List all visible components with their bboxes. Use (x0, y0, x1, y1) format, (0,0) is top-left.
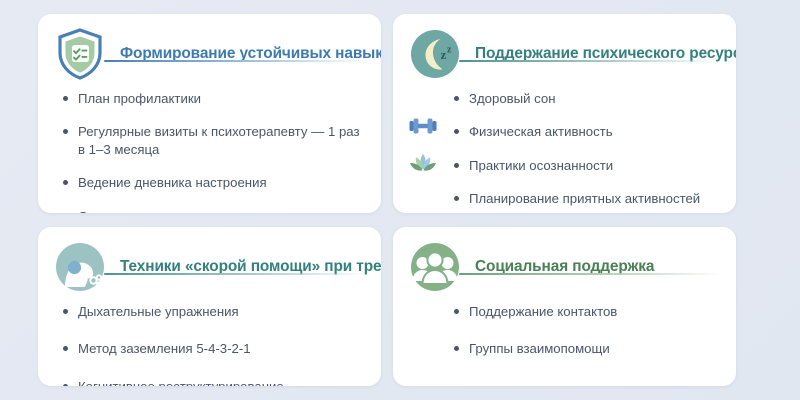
list-item: Дыхательные упражнения (60, 303, 365, 320)
list-item: Ведение дневника настроения (60, 174, 365, 191)
header-divider (104, 273, 367, 275)
card-header: Формирование устойчивых навыков (120, 32, 365, 76)
shield-checklist-icon (52, 26, 108, 82)
svg-text:z: z (441, 47, 447, 62)
card-header: Поддержание психического ресурса (475, 32, 720, 76)
list-item: Планирование приятных активностей (451, 190, 720, 207)
card-skills[interactable]: Формирование устойчивых навыков План про… (38, 14, 381, 213)
header-divider (459, 60, 722, 62)
list-item: Группы взаимопомощи (451, 340, 720, 357)
lotus-icon (407, 148, 439, 180)
list-item: Когнитивное реструктурирование (60, 378, 365, 386)
list-item: Поддержание контактов (451, 303, 720, 320)
header-divider (459, 273, 722, 275)
card-first-aid[interactable]: Техники «скорой помощи» при тревоге Дыха… (38, 227, 381, 386)
header-divider (104, 60, 367, 62)
list-item: Практики осознанности (451, 157, 720, 174)
card-grid: Формирование устойчивых навыков План про… (38, 14, 768, 386)
list-item: План профилактики (60, 90, 365, 107)
card-list: План профилактики Регулярные визиты к пс… (60, 90, 365, 213)
head-breathing-icon (52, 239, 108, 295)
card-content: Техники «скорой помощи» при тревоге Дыха… (38, 227, 381, 386)
list-item: Отслеживание ранних признаков ухудшения (60, 208, 365, 213)
dumbbell-icon (407, 110, 439, 142)
list-item: Метод заземления 5-4-3-2-1 (60, 340, 365, 357)
list-item: Физическая активность (451, 123, 720, 140)
people-group-icon (407, 239, 463, 295)
list-item: Регулярные визиты к психотерапевту — 1 р… (60, 123, 365, 158)
list-item: Здоровый сон (451, 90, 720, 107)
svg-text:z: z (447, 45, 452, 56)
card-mental-resource[interactable]: z z Поддержание психического ресурса (393, 14, 736, 213)
card-social-support[interactable]: Социальная поддержка Поддержание контакт… (393, 227, 736, 386)
card-header: Социальная поддержка (475, 245, 720, 289)
card-list: Поддержание контактов Группы взаимопомощ… (451, 303, 720, 358)
card-list: Здоровый сон Физическая активность Практ… (451, 90, 720, 208)
card-content: Социальная поддержка Поддержание контакт… (393, 227, 736, 386)
card-list: Дыхательные упражнения Метод заземления … (60, 303, 365, 386)
card-content: Формирование устойчивых навыков План про… (38, 14, 381, 213)
moon-sleep-icon: z z (407, 26, 463, 82)
card-content: z z Поддержание психического ресурса (393, 14, 736, 213)
card-header: Техники «скорой помощи» при тревоге (120, 245, 365, 289)
